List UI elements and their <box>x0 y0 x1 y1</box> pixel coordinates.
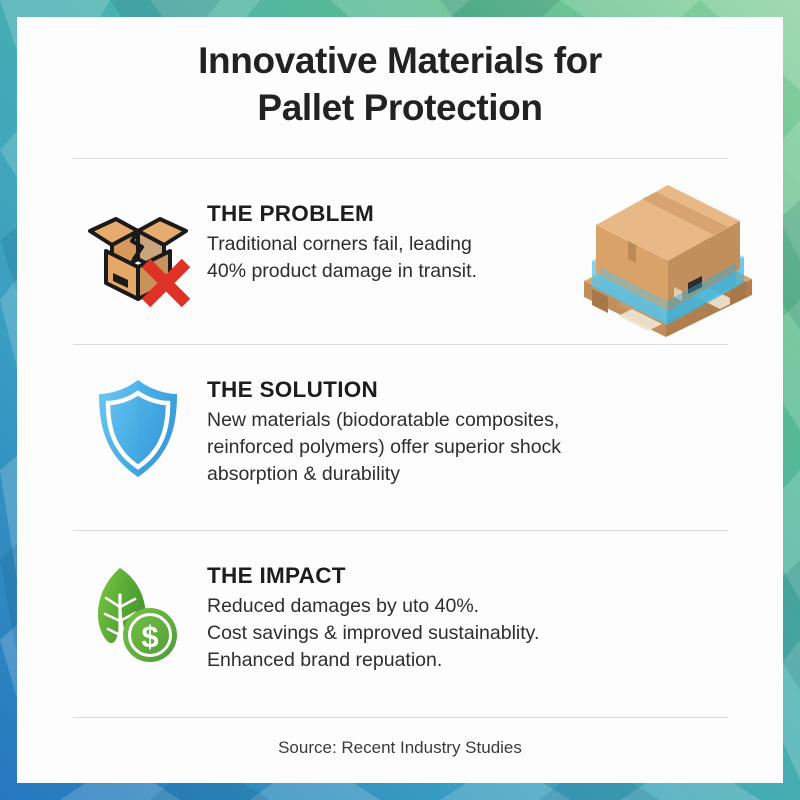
section-solution-text: New materials (biodoratable composites, … <box>207 407 637 489</box>
section-impact-heading: THE IMPACT <box>207 563 607 589</box>
broken-box-icon <box>79 201 197 305</box>
section-solution-text-line-1: New materials (biodoratable composites, <box>207 407 637 434</box>
section-problem-text: Traditional corners fail, leading 40% pr… <box>207 231 537 286</box>
leaf-money-icon: $ <box>79 563 197 667</box>
section-impact-text-line-3: Enhanced brand repuation. <box>207 647 607 674</box>
section-problem-heading: THE PROBLEM <box>207 201 537 227</box>
shield-icon <box>79 377 197 481</box>
section-solution-text-line-2: reinforced polymers) offer superior shoc… <box>207 434 637 461</box>
section-impact-body: THE IMPACT Reduced damages by uto 40%. C… <box>197 563 607 675</box>
section-solution-body: THE SOLUTION New materials (biodoratable… <box>197 377 637 489</box>
source-note: Source: Recent Industry Studies <box>17 718 783 758</box>
section-solution: THE SOLUTION New materials (biodoratable… <box>17 345 783 530</box>
title-line-1: Innovative Materials for <box>17 37 783 84</box>
infographic-poster: Innovative Materials for Pallet Protecti… <box>0 0 800 800</box>
section-problem-text-line-2: 40% product damage in transit. <box>207 258 537 285</box>
page-title: Innovative Materials for Pallet Protecti… <box>17 17 783 132</box>
section-problem-text-line-1: Traditional corners fail, leading <box>207 231 537 258</box>
svg-text:$: $ <box>141 619 158 654</box>
wrapped-box-on-pallet-illustration <box>570 163 765 338</box>
section-impact: $ THE IMPACT Reduced damages by uto 40%.… <box>17 531 783 717</box>
title-line-2: Pallet Protection <box>17 84 783 131</box>
section-solution-text-line-3: absorption & durability <box>207 461 637 488</box>
section-impact-text: Reduced damages by uto 40%. Cost savings… <box>207 593 607 675</box>
section-impact-text-line-2: Cost savings & improved sustainablity. <box>207 620 607 647</box>
section-solution-heading: THE SOLUTION <box>207 377 637 403</box>
content-card: Innovative Materials for Pallet Protecti… <box>17 17 783 783</box>
section-problem: THE PROBLEM Traditional corners fail, le… <box>17 159 783 344</box>
section-problem-body: THE PROBLEM Traditional corners fail, le… <box>197 201 537 286</box>
section-impact-text-line-1: Reduced damages by uto 40%. <box>207 593 607 620</box>
